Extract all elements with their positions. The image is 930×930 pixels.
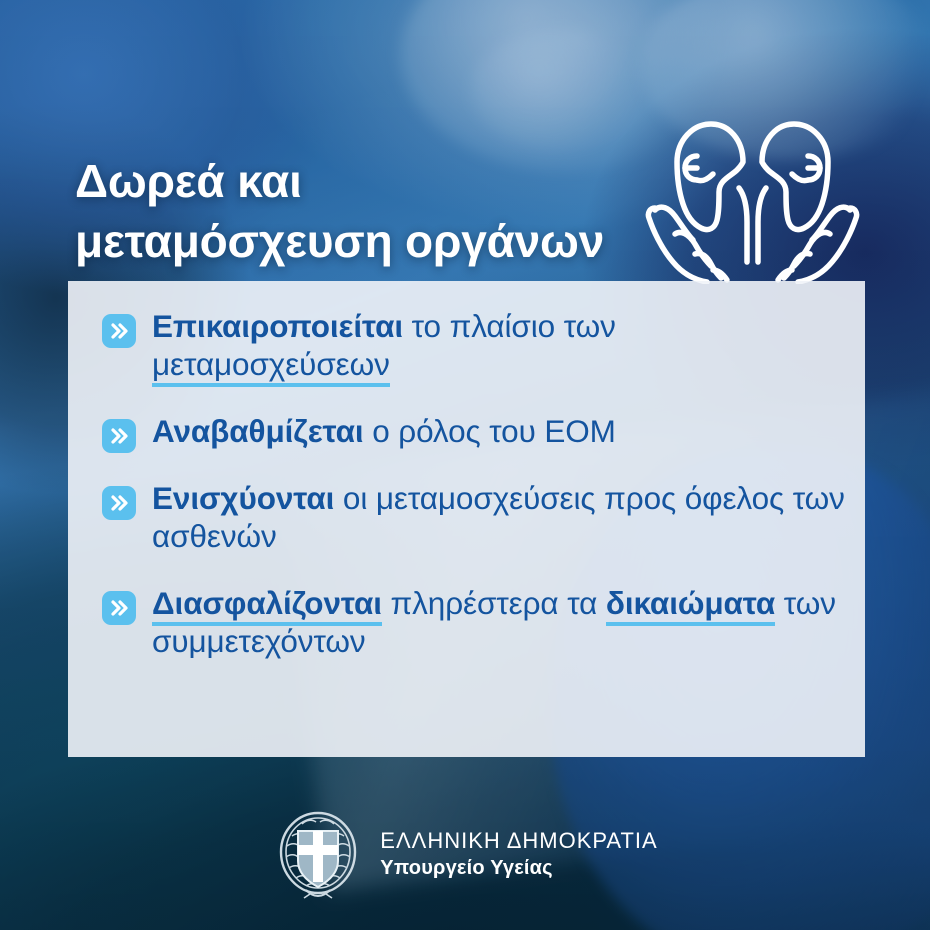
list-item: Επικαιροποιείται το πλαίσιο των μεταμοσχ… xyxy=(102,307,847,384)
page-title: Δωρεά και μεταμόσχευση οργάνων xyxy=(75,152,695,272)
list-item-mid: πληρέστερα τα xyxy=(382,585,606,621)
list-item-lead: Ενισχύονται xyxy=(152,480,334,516)
footer-line-1: ΕΛΛΗΝΙΚΗ ΔΗΜΟΚΡΑΤΙΑ xyxy=(380,828,657,854)
list-item-text: Αναβαθμίζεται ο ρόλος του ΕΟΜ xyxy=(152,412,616,450)
list-item: Διασφαλίζονται πληρέστερα τα δικαιώματα … xyxy=(102,584,847,661)
double-chevron-right-icon xyxy=(102,419,136,453)
list-item-lead: Διασφαλίζονται xyxy=(152,585,382,626)
content-panel: Επικαιροποιείται το πλαίσιο των μεταμοσχ… xyxy=(68,281,865,757)
list-item-underlined: δικαιώματα xyxy=(606,585,775,626)
bullet-list: Επικαιροποιείται το πλαίσιο των μεταμοσχ… xyxy=(102,307,847,661)
double-chevron-right-icon xyxy=(102,314,136,348)
list-item-text: Επικαιροποιείται το πλαίσιο των μεταμοσχ… xyxy=(152,307,847,384)
list-item-lead: Επικαιροποιείται xyxy=(152,308,403,344)
list-item: Αναβαθμίζεται ο ρόλος του ΕΟΜ xyxy=(102,412,847,453)
list-item-text: Ενισχύονται οι μεταμοσχεύσεις προς όφελο… xyxy=(152,479,847,556)
list-item-mid: το πλαίσιο των xyxy=(403,308,616,344)
header: Δωρεά και μεταμόσχευση οργάνων xyxy=(75,152,695,272)
footer-logo: ΕΛΛΗΝΙΚΗ ΔΗΜΟΚΡΑΤΙΑ Υπουργείο Υγείας xyxy=(0,806,930,902)
list-item-text: Διασφαλίζονται πληρέστερα τα δικαιώματα … xyxy=(152,584,847,661)
list-item-lead: Αναβαθμίζεται xyxy=(152,413,364,449)
list-item: Ενισχύονται οι μεταμοσχεύσεις προς όφελο… xyxy=(102,479,847,556)
list-item-underlined: μεταμοσχεύσεων xyxy=(152,346,390,387)
kidneys-in-hands-icon xyxy=(645,104,860,284)
list-item-mid: ο ρόλος του ΕΟΜ xyxy=(364,413,616,449)
footer-line-2: Υπουργείο Υγείας xyxy=(380,857,657,881)
poster-canvas: Δωρεά και μεταμόσχευση οργάνων xyxy=(0,0,930,930)
double-chevron-right-icon xyxy=(102,591,136,625)
greek-coat-of-arms-icon xyxy=(272,806,364,902)
double-chevron-right-icon xyxy=(102,486,136,520)
footer-text: ΕΛΛΗΝΙΚΗ ΔΗΜΟΚΡΑΤΙΑ Υπουργείο Υγείας xyxy=(380,828,657,881)
